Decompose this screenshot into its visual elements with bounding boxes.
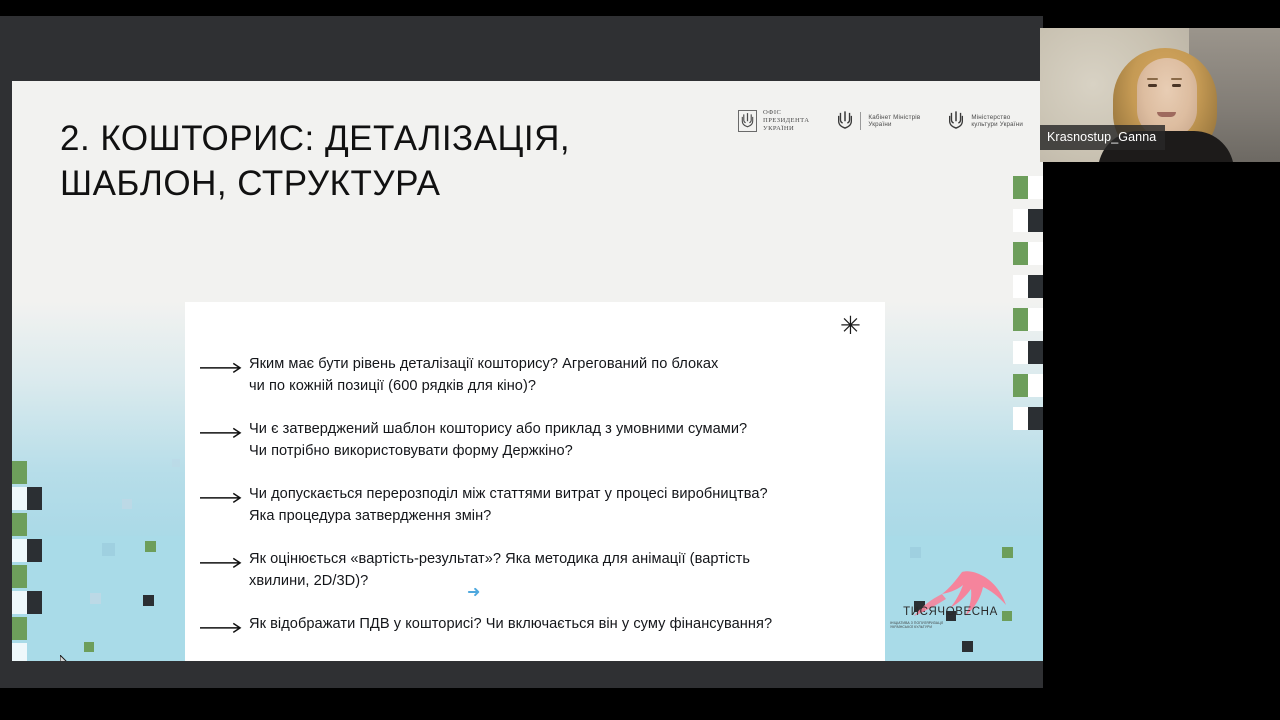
deco-square [1028, 176, 1043, 199]
deco-square [1028, 242, 1043, 265]
deco-square [1028, 308, 1043, 331]
office-of-the-president-label: ОФІС ПРЕЗИДЕНТА УКРАЇНИ [763, 109, 809, 134]
deco-square [90, 593, 101, 604]
list-item-line: Яким має бути рівень деталізації коштори… [249, 354, 718, 376]
list-item-line: Як відображати ПДВ у кошторисі? Чи включ… [249, 614, 772, 636]
deco-square [27, 539, 42, 562]
cabinet-of-ministers-label: Кабінет Міністрів України [868, 114, 920, 129]
arrow-right-icon [200, 492, 245, 504]
deco-square [962, 641, 973, 652]
participant-eye-right [1172, 84, 1181, 87]
deco-square [1028, 341, 1043, 364]
participant-eye-left [1148, 84, 1157, 87]
deco-square [1028, 209, 1043, 232]
list-item: Чи допускається перерозподіл між статтям… [200, 484, 867, 527]
participant-name-label: Krasnostup_Ganna [1040, 125, 1165, 151]
deco-square [12, 565, 27, 588]
list-item-line: Чи потрібно використовувати форму Держкі… [249, 441, 747, 463]
deco-square [910, 547, 921, 558]
participant-brow-right [1171, 78, 1182, 80]
deco-square [1013, 176, 1028, 199]
deco-square [172, 459, 180, 467]
slide-title-line-2: Шаблон, Структура [60, 161, 680, 206]
list-item: Яким має бути рівень деталізації коштори… [200, 354, 867, 397]
list-item-line: Яка процедура затвердження змін? [249, 506, 768, 528]
deco-square [1013, 275, 1028, 298]
arrow-right-icon [200, 427, 245, 439]
slide-title: 2. Кошторис: Деталізація, Шаблон, Структ… [60, 116, 680, 206]
slide-canvas: 2. Кошторис: Деталізація, Шаблон, Структ… [12, 81, 1043, 661]
deco-square [1013, 407, 1028, 430]
deco-square [1002, 547, 1013, 558]
questions-list: Яким має бути рівень деталізації коштори… [200, 354, 867, 636]
deco-square [143, 595, 154, 606]
deco-square [27, 487, 42, 510]
deco-square [1028, 374, 1043, 397]
right-checker-pattern [1013, 176, 1043, 476]
deco-square [1013, 341, 1028, 364]
arrow-right-icon [200, 362, 245, 374]
questions-card: ✳ Яким має бути рівень деталізації кошто… [185, 302, 885, 661]
presentation-stage: 2. Кошторис: Деталізація, Шаблон, Структ… [0, 16, 1043, 688]
deco-square [12, 591, 27, 614]
meeting-screen-share-view: 2. Кошторис: Деталізація, Шаблон, Структ… [0, 0, 1280, 720]
deco-square [12, 643, 27, 661]
list-item-text: Як оцінюється «вартість-результат»? Яка … [249, 549, 750, 592]
list-item: Як оцінюється «вартість-результат»? Яка … [200, 549, 867, 592]
arrow-right-icon [200, 622, 245, 634]
list-item-line: чи по кожній позиції (600 рядків для кін… [249, 376, 718, 398]
list-item-text: Чи є затверджений шаблон кошторису або п… [249, 419, 747, 462]
logo-divider [860, 112, 861, 130]
ministry-of-culture-label: Міністерство культури України [971, 114, 1023, 129]
list-item-line: хвилини, 2D/3D)? [249, 571, 750, 593]
participant-mouth [1157, 112, 1176, 117]
participant-video-tile[interactable]: Krasnostup_Ganna [1040, 28, 1280, 162]
list-item-text: Як відображати ПДВ у кошторисі? Чи включ… [249, 614, 772, 636]
brand-subtitle: ІНІЦІАТИВА З ПОПУЛЯРИЗАЦІЇ УКРАЇНСЬКОЇ К… [890, 621, 966, 630]
list-item-line: Як оцінюється «вартість-результат»? Яка … [249, 549, 750, 571]
mouse-cursor [60, 655, 72, 661]
deco-square [1013, 308, 1028, 331]
tryzub-icon [738, 110, 757, 132]
list-item-line: Чи є затверджений шаблон кошторису або п… [249, 419, 747, 441]
tryzub-icon [947, 110, 965, 132]
deco-square [1013, 209, 1028, 232]
tysyachovesna-brand-logo: ТИСЯЧОВЕСНА ІНІЦІАТИВА З ПОПУЛЯРИЗАЦІЇ У… [888, 568, 1023, 636]
blue-arrow-icon: ➜ [467, 585, 480, 601]
government-logos: ОФІС ПРЕЗИДЕНТА УКРАЇНИ Кабінет Міністрі… [738, 109, 1023, 134]
list-item-line: Чи допускається перерозподіл між статтям… [249, 484, 768, 506]
deco-square [12, 513, 27, 536]
deco-square [12, 487, 27, 510]
deco-square [12, 461, 27, 484]
ministry-of-culture-logo: Міністерство культури України [947, 110, 1023, 132]
list-item: Чи є затверджений шаблон кошторису або п… [200, 419, 867, 462]
deco-square [1028, 407, 1043, 430]
tryzub-icon [836, 110, 854, 132]
arrow-right-icon [200, 557, 245, 569]
deco-square [84, 642, 94, 652]
deco-square [12, 539, 27, 562]
asterisk-icon: ✳ [840, 314, 861, 339]
deco-square [12, 617, 27, 640]
deco-square [122, 499, 132, 509]
deco-square [1028, 275, 1043, 298]
deco-square [1013, 242, 1028, 265]
list-item-text: Яким має бути рівень деталізації коштори… [249, 354, 718, 397]
office-of-the-president-logo: ОФІС ПРЕЗИДЕНТА УКРАЇНИ [738, 109, 809, 134]
brand-name: ТИСЯЧОВЕСНА [888, 606, 1013, 618]
deco-square [102, 543, 115, 556]
cabinet-of-ministers-logo: Кабінет Міністрів України [836, 110, 920, 132]
list-item: Як відображати ПДВ у кошторисі? Чи включ… [200, 614, 867, 636]
deco-square [145, 541, 156, 552]
slide-title-line-1: 2. Кошторис: Деталізація, [60, 116, 680, 161]
list-item-text: Чи допускається перерозподіл між статтям… [249, 484, 768, 527]
deco-square [27, 591, 42, 614]
participant-brow-left [1147, 78, 1158, 80]
left-checker-pattern [12, 461, 42, 661]
deco-square [1013, 374, 1028, 397]
